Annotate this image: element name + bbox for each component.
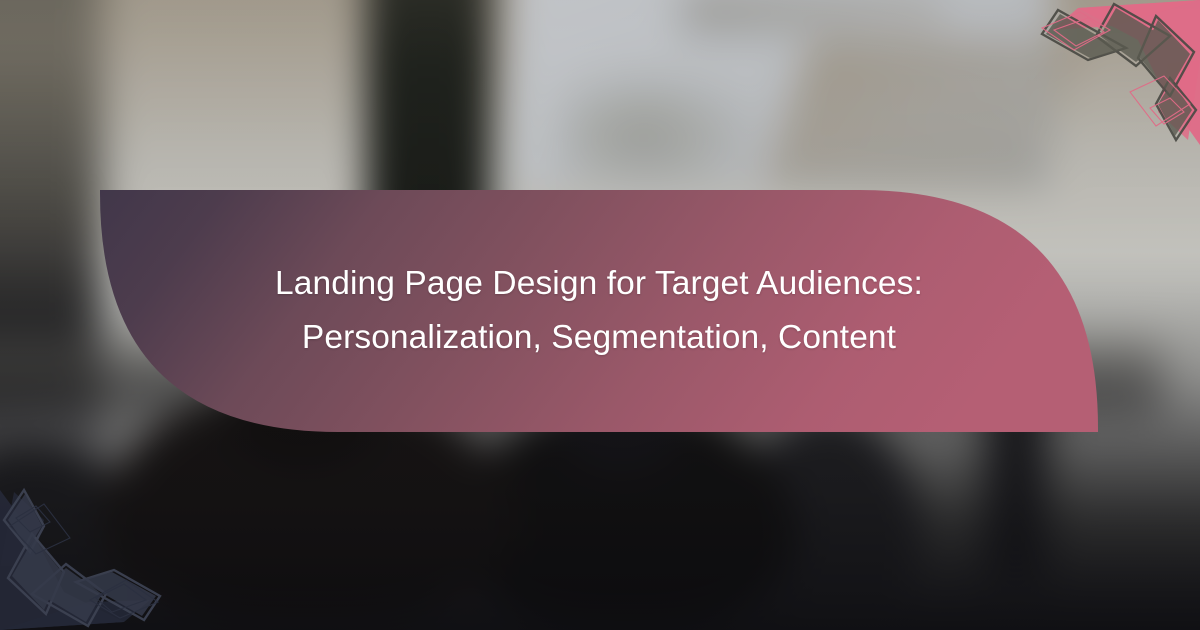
page-title: Landing Page Design for Target Audiences… <box>169 257 1029 366</box>
title-banner: Landing Page Design for Target Audiences… <box>100 190 1098 432</box>
banner-canvas: Landing Page Design for Target Audiences… <box>0 0 1200 630</box>
title-line-2: Personalization, Segmentation, Content <box>302 319 896 356</box>
title-line-1: Landing Page Design for Target Audiences… <box>275 265 923 302</box>
